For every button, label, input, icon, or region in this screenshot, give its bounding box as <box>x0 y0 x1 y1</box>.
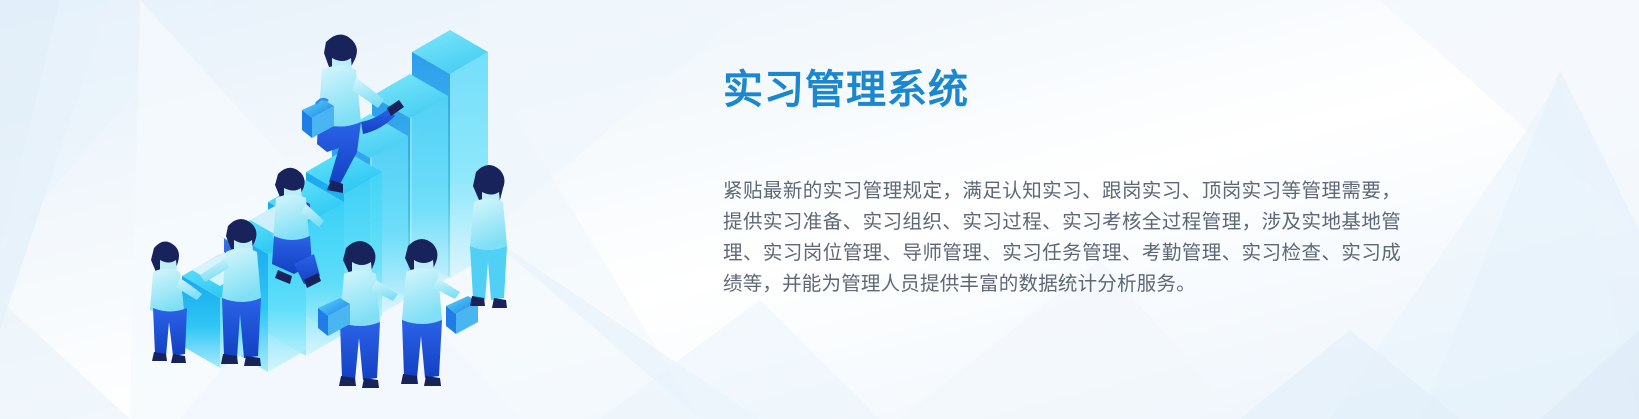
hero-banner: 实习管理系统 紧贴最新的实习管理规定，满足认知实习、跟岗实习、顶岗实习等管理需要… <box>0 0 1639 419</box>
page-title: 实习管理系统 <box>723 62 1423 118</box>
figure-woman-right <box>470 165 507 308</box>
hero-copy: 实习管理系统 紧贴最新的实习管理规定，满足认知实习、跟岗实习、顶岗实习等管理需要… <box>723 62 1423 300</box>
isometric-growth-chart-illustration <box>120 8 540 408</box>
page-description: 紧贴最新的实习管理规定，满足认知实习、跟岗实习、顶岗实习等管理需要，提供实习准备… <box>723 118 1401 300</box>
